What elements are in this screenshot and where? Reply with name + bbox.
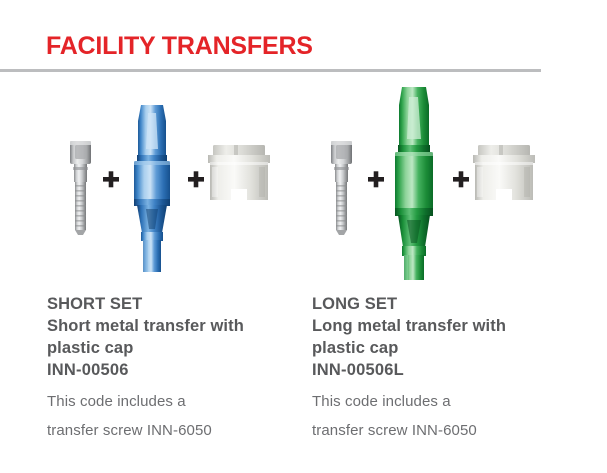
page-title: FACILITY TRANSFERS xyxy=(46,34,313,59)
set-note-line1: This code includes a xyxy=(312,387,570,416)
plastic-cap-illustration xyxy=(208,145,270,200)
plus-icon-1 xyxy=(103,171,119,187)
set-description: Short metal transfer with plastic cap xyxy=(47,315,305,359)
product-code: INN-00506L xyxy=(312,359,570,381)
set-description-line2: plastic cap xyxy=(312,337,570,359)
product-card-long-set[interactable]: LONG SET Long metal transfer with plasti… xyxy=(305,75,575,473)
short-set-text: SHORT SET Short metal transfer with plas… xyxy=(47,293,305,445)
set-note: This code includes a transfer screw INN-… xyxy=(312,387,570,445)
set-name: LONG SET xyxy=(312,293,570,315)
short-set-figure xyxy=(40,75,305,280)
long-set-text: LONG SET Long metal transfer with plasti… xyxy=(312,293,570,445)
short-metal-transfer-illustration xyxy=(134,105,170,272)
set-note-line2: transfer screw INN-6050 xyxy=(47,416,305,445)
plus-icon-2 xyxy=(188,171,204,187)
set-description-emphasis: Long xyxy=(312,317,353,335)
set-description-rest: metal transfer with xyxy=(353,317,506,335)
product-list: SHORT SET Short metal transfer with plas… xyxy=(0,75,607,473)
catalog-page: FACILITY TRANSFERS xyxy=(0,0,607,473)
set-name: SHORT SET xyxy=(47,293,305,315)
set-description-rest: metal transfer with xyxy=(91,317,244,335)
long-metal-transfer-illustration xyxy=(395,87,433,280)
product-code: INN-00506 xyxy=(47,359,305,381)
set-note-line2: transfer screw INN-6050 xyxy=(312,416,570,445)
transfer-screw-illustration xyxy=(70,141,91,235)
product-card-short-set[interactable]: SHORT SET Short metal transfer with plas… xyxy=(40,75,310,473)
set-description: Long metal transfer with plastic cap xyxy=(312,315,570,359)
title-divider xyxy=(0,69,541,72)
transfer-screw-illustration xyxy=(331,141,352,235)
long-set-figure xyxy=(305,75,570,280)
plastic-cap-illustration xyxy=(473,145,535,200)
plus-icon-2 xyxy=(453,171,469,187)
set-description-emphasis: Short xyxy=(47,317,91,335)
set-note-line1: This code includes a xyxy=(47,387,305,416)
set-note: This code includes a transfer screw INN-… xyxy=(47,387,305,445)
plus-icon-1 xyxy=(368,171,384,187)
set-description-line2: plastic cap xyxy=(47,337,305,359)
